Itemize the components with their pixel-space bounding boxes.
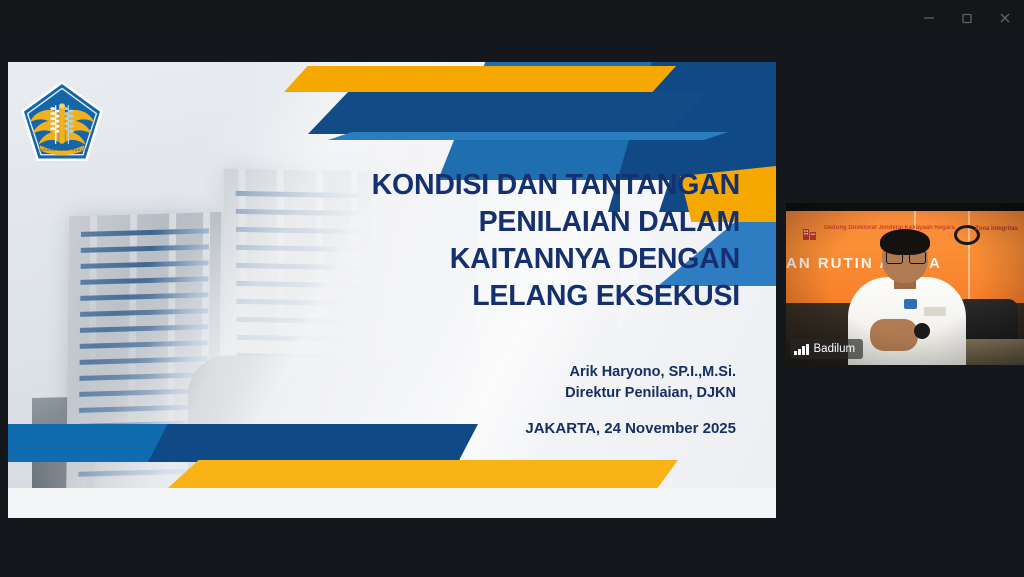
title-line-1: KONDISI DAN TANTANGAN bbox=[240, 167, 740, 204]
minimize-button[interactable] bbox=[910, 3, 948, 33]
decor-gold-band-bottom bbox=[168, 460, 678, 488]
presenter-name: Arik Haryono, SP.I.,M.Si. bbox=[276, 362, 736, 383]
maximize-button[interactable] bbox=[948, 3, 986, 33]
decor-white-band-bottom bbox=[8, 488, 776, 518]
slide-title: KONDISI DAN TANTANGAN PENILAIAN DALAM KA… bbox=[240, 167, 740, 315]
participant-name-label: Badilum bbox=[790, 339, 863, 359]
title-line-2: PENILAIAN DALAM bbox=[240, 204, 740, 241]
kemenkeu-logo-icon: NAGARA DANA RAKCA bbox=[20, 80, 104, 164]
logo-motto-text: NAGARA DANA RAKCA bbox=[37, 148, 88, 152]
decor-blue-strip bbox=[328, 132, 728, 140]
participant-name-text: Badilum bbox=[814, 343, 856, 355]
presenter-role: Direktur Penilaian, DJKN bbox=[276, 383, 736, 404]
video-frame: Gedung Direktorat Jenderal Kekayaan Nega… bbox=[786, 203, 1024, 365]
place-date: JAKARTA, 24 November 2025 bbox=[276, 420, 736, 437]
title-line-3: KAITANNYA DENGAN bbox=[240, 241, 740, 278]
title-line-4: LELANG EKSEKUSI bbox=[240, 278, 740, 315]
decor-navy-band-top bbox=[308, 92, 708, 134]
decor-gold-band-top bbox=[284, 66, 676, 92]
slide-subtitle: Arik Haryono, SP.I.,M.Si. Direktur Penil… bbox=[276, 362, 736, 437]
participant-video-tile[interactable]: Gedung Direktorat Jenderal Kekayaan Nega… bbox=[786, 203, 1024, 365]
meeting-window: NAGARA DANA RAKCA KONDISI DAN TANTANGAN … bbox=[0, 0, 1024, 577]
close-button[interactable] bbox=[986, 3, 1024, 33]
window-titlebar bbox=[0, 0, 1024, 36]
signal-bars-icon bbox=[794, 344, 809, 355]
shared-presentation-slide[interactable]: NAGARA DANA RAKCA KONDISI DAN TANTANGAN … bbox=[8, 62, 776, 518]
